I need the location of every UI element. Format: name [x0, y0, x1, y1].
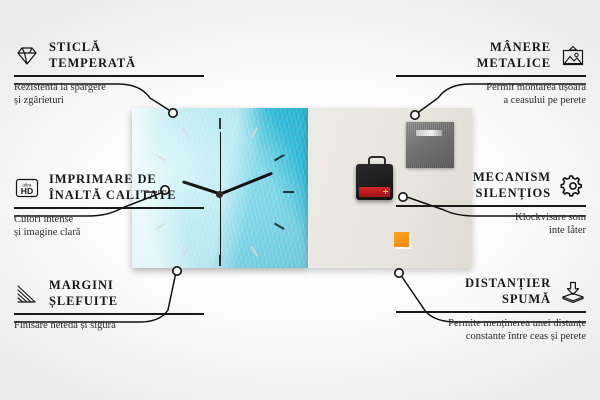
callout-header: STICLĂ TEMPERATĂ [14, 40, 204, 71]
callout-desc-line2: constante între ceas și perete [396, 330, 586, 344]
callout-title: MÂNERE METALICE [477, 40, 551, 71]
diamond-icon [14, 45, 40, 67]
hanger-slot [416, 130, 442, 136]
callout-header: ultra HD IMPRIMARE DE ÎNALTĂ CALITATE [14, 172, 204, 203]
callout-title-line2: ȘLEFUITE [49, 294, 118, 310]
callout-title: IMPRIMARE DE ÎNALTĂ CALITATE [49, 172, 177, 203]
clock-mark [251, 246, 258, 257]
callout-desc-line2: inte låter [396, 224, 586, 238]
callout-title-line1: STICLĂ [49, 40, 136, 56]
metal-hanger-plate [406, 122, 454, 168]
callout-divider [14, 75, 204, 77]
picture-hanger-icon [560, 45, 586, 67]
callout-desc-line2: și zgârieturi [14, 94, 204, 108]
battery-plus-icon [383, 189, 388, 194]
callout-divider [396, 311, 586, 313]
polished-edge-icon [14, 283, 40, 305]
callout-polished-edges: MARGINI ȘLEFUITE Finisare netedă și sigu… [14, 278, 204, 332]
callout-title-line2: ÎNALTĂ CALITATE [49, 188, 177, 204]
callout-desc-line1: Rezistentă la spargere [14, 81, 204, 95]
callout-title-line2: SILENȚIOS [473, 186, 551, 202]
callout-desc-line2: și imagine clară [14, 226, 204, 240]
callout-description: Permite menținerea unei distanțe constan… [396, 317, 586, 345]
callout-silent-mechanism: MECANISM SILENȚIOS Klockvisare som inte … [396, 170, 586, 238]
clock-mark [274, 223, 285, 230]
callout-desc-line1: Permit montarea ușoară [396, 81, 586, 95]
callout-desc-line1: Finisare netedă și sigură [14, 319, 204, 333]
callout-desc-line1: Culori intense [14, 213, 204, 227]
callout-description: Klockvisare som inte låter [396, 211, 586, 239]
clock-mark [274, 154, 285, 161]
callout-title-line1: MECANISM [473, 170, 551, 186]
callout-title: STICLĂ TEMPERATĂ [49, 40, 136, 71]
callout-title: MECANISM SILENȚIOS [473, 170, 551, 201]
gear-icon [560, 175, 586, 197]
callout-title-line1: MÂNERE [477, 40, 551, 56]
clock-center-cap [216, 191, 223, 198]
clock-mark [155, 154, 166, 161]
clock-minute-hand [220, 172, 273, 196]
callout-title-line1: DISTANȚIER [465, 276, 551, 292]
clock-mark [219, 118, 221, 129]
ultra-hd-icon: ultra HD [14, 177, 40, 199]
callout-desc-line1: Permite menținerea unei distanțe [396, 317, 586, 331]
callout-divider [14, 207, 204, 209]
callout-title-line2: TEMPERATĂ [49, 56, 136, 72]
callout-title-line1: MARGINI [49, 278, 118, 294]
callout-tempered-glass: STICLĂ TEMPERATĂ Rezistentă la spargere … [14, 40, 204, 108]
callout-divider [14, 313, 204, 315]
callout-description: Finisare netedă și sigură [14, 319, 204, 333]
callout-title-line2: SPUMĂ [465, 292, 551, 308]
callout-foam-spacer: DISTANȚIER SPUMĂ Permite menținerea unei… [396, 276, 586, 344]
callout-title-line2: METALICE [477, 56, 551, 72]
callout-title: DISTANȚIER SPUMĂ [465, 276, 551, 307]
clock-mark [182, 127, 189, 138]
infographic-canvas: STICLĂ TEMPERATĂ Rezistentă la spargere … [0, 0, 600, 400]
callout-title: MARGINI ȘLEFUITE [49, 278, 118, 309]
callout-divider [396, 205, 586, 207]
clock-mark [283, 191, 294, 193]
callout-description: Permit montarea ușoară a ceasului pe per… [396, 81, 586, 109]
callout-header: MARGINI ȘLEFUITE [14, 278, 204, 309]
callout-header: MÂNERE METALICE [396, 40, 586, 71]
callout-divider [396, 75, 586, 77]
battery [359, 187, 390, 197]
callout-high-quality-print: ultra HD IMPRIMARE DE ÎNALTĂ CALITATE Cu… [14, 172, 204, 240]
clock-mark [182, 246, 189, 257]
press-pad-icon [560, 281, 586, 303]
callout-description: Rezistentă la spargere și zgârieturi [14, 81, 204, 109]
callout-description: Culori intense și imagine clară [14, 213, 204, 241]
clock-mark [251, 127, 258, 138]
callout-desc-line1: Klockvisare som [396, 211, 586, 225]
ultra-hd-large-text: HD [21, 186, 33, 196]
callout-header: DISTANȚIER SPUMĂ [396, 276, 586, 307]
callout-title-line1: IMPRIMARE DE [49, 172, 177, 188]
callout-desc-line2: a ceasului pe perete [396, 94, 586, 108]
callout-metal-hooks: MÂNERE METALICE Permit montarea ușoară a… [396, 40, 586, 108]
clock-mechanism [356, 164, 393, 200]
callout-header: MECANISM SILENȚIOS [396, 170, 586, 201]
